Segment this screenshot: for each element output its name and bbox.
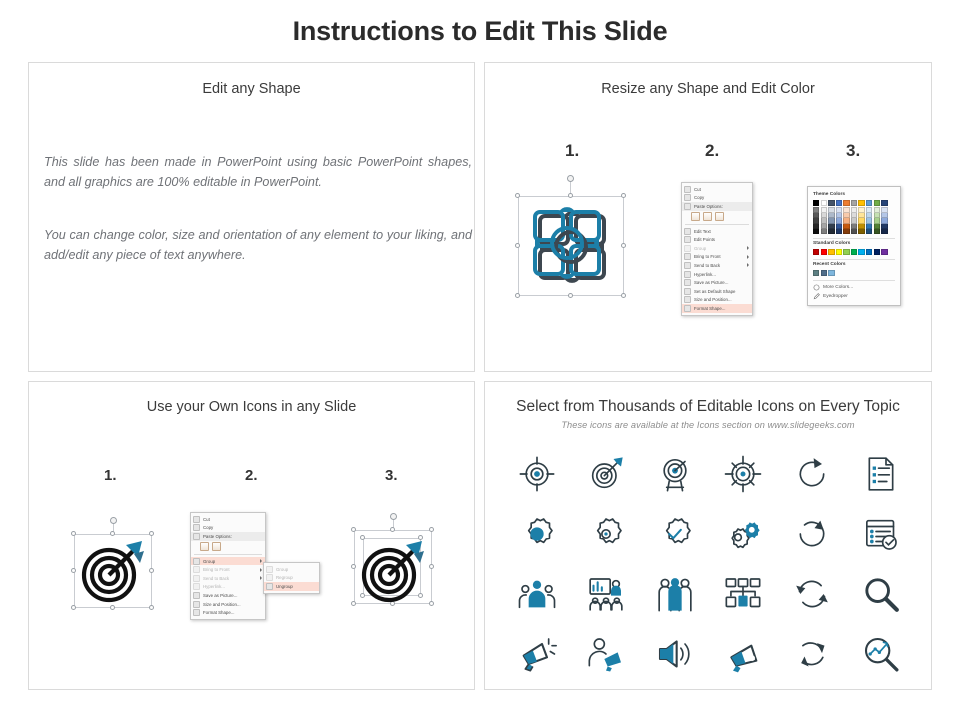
color-swatch-2[interactable] xyxy=(821,200,827,206)
format-shape-icon xyxy=(684,305,691,312)
submenu-arrow-icon xyxy=(747,263,749,267)
color-swatch-8[interactable] xyxy=(866,249,872,255)
context-menu-item-format-shape[interactable]: Format Shape... xyxy=(682,304,752,313)
context-menu-item-label: Format Shape... xyxy=(694,306,725,311)
resize-step-number-2: 2. xyxy=(705,141,719,161)
resize-handle-n-3[interactable] xyxy=(390,527,395,532)
context-menu-item-hyperlink[interactable]: Hyperlink... xyxy=(682,270,752,279)
panel-heading-icon-library: Select from Thousands of Editable Icons … xyxy=(485,398,931,416)
context-menu-item-label: Bring to Front xyxy=(203,567,230,572)
panel-heading-own-icons: Use your Own Icons in any Slide xyxy=(29,399,474,415)
eyedropper-item-label: Eyedropper xyxy=(823,294,848,299)
context-submenu-group[interactable]: GroupRegroupUngroup xyxy=(263,562,320,594)
context-menu-shape[interactable]: CutCopyPaste Options:Edit TextEdit Point… xyxy=(681,182,753,316)
color-swatch-3[interactable] xyxy=(828,270,834,276)
resize-handle-ne-3[interactable] xyxy=(429,527,434,532)
color-swatch-1[interactable] xyxy=(813,270,819,276)
resize-handle-se-2[interactable] xyxy=(149,605,154,610)
paste-option-icon-2[interactable] xyxy=(212,542,221,551)
theme-tint-column-8[interactable] xyxy=(866,207,872,234)
dartboard-arrow-ungrouped-icon[interactable] xyxy=(358,535,428,608)
scissors-icon xyxy=(684,186,691,193)
icon-library-grid xyxy=(503,444,915,684)
edit-points-icon xyxy=(684,236,691,243)
team-three-icon[interactable] xyxy=(652,571,698,617)
group-icon xyxy=(266,566,273,573)
context-menu-item-label: Edit Points xyxy=(694,237,715,242)
slide-canvas: Instructions to Edit This Slide Edit any… xyxy=(0,0,960,720)
context-menu-item-label: Size and Position... xyxy=(694,297,732,302)
color-swatch-10[interactable] xyxy=(881,200,887,206)
resize-handle-ne-2[interactable] xyxy=(149,531,154,536)
color-swatch-2[interactable] xyxy=(821,249,827,255)
theme-tint-swatch-8-5[interactable] xyxy=(866,229,872,234)
theme-tint-column-10[interactable] xyxy=(881,207,887,234)
paste-option-buttons[interactable] xyxy=(682,211,752,223)
theme-tint-swatch-3-5[interactable] xyxy=(828,229,834,234)
palette-icon xyxy=(813,284,820,291)
theme-tint-column-9[interactable] xyxy=(874,207,880,234)
resize-handle-w-3[interactable] xyxy=(351,564,356,569)
edit-shape-paragraph-1: This slide has been made in PowerPoint u… xyxy=(44,152,472,193)
resize-handle-e[interactable] xyxy=(621,243,626,248)
context-menu-item-label: Bring to Front xyxy=(694,254,721,259)
eyedropper-item[interactable]: Eyedropper xyxy=(813,292,895,301)
four-square-rotate-shape-icon[interactable] xyxy=(529,200,615,297)
more-colors-item[interactable]: More Colors... xyxy=(813,283,895,292)
color-swatch-5[interactable] xyxy=(843,249,849,255)
theme-tint-swatch-1-5[interactable] xyxy=(813,229,819,234)
context-menu-item-group[interactable]: Group xyxy=(264,565,319,574)
magnifier-chart-icon[interactable] xyxy=(858,631,904,677)
ungroup-icon xyxy=(266,583,273,590)
paste-option-icon-3[interactable] xyxy=(715,212,724,221)
menu-separator xyxy=(194,554,262,555)
icons-step-number-1: 1. xyxy=(104,467,117,484)
size-position-icon xyxy=(684,296,691,303)
submenu-arrow-icon xyxy=(260,559,262,563)
context-menu-item-label: Save as Picture... xyxy=(694,280,728,285)
people-group-icon[interactable] xyxy=(514,571,560,617)
sync-arrows-icon[interactable] xyxy=(789,571,835,617)
color-palette-popup[interactable]: Theme ColorsStandard ColorsRecent Colors… xyxy=(807,186,901,306)
context-menu-item-size-and-position[interactable]: Size and Position... xyxy=(682,296,752,305)
context-menu-item-copy[interactable]: Copy xyxy=(682,194,752,203)
paste-option-buttons[interactable] xyxy=(191,541,265,553)
paste-icon xyxy=(684,203,691,210)
theme-tint-swatch-6-5[interactable] xyxy=(851,229,857,234)
theme-tint-column-4[interactable] xyxy=(836,207,842,234)
color-swatch-9[interactable] xyxy=(874,249,880,255)
resize-handle-nw[interactable] xyxy=(515,193,520,198)
color-swatch-4[interactable] xyxy=(836,249,842,255)
theme-tint-swatch-7-5[interactable] xyxy=(858,229,864,234)
color-swatch-9[interactable] xyxy=(874,200,880,206)
send-back-icon xyxy=(684,262,691,269)
scissors-icon xyxy=(193,516,200,523)
resize-step-number-3: 3. xyxy=(846,141,860,161)
theme-colors-tints[interactable] xyxy=(813,207,895,234)
panel-icon-library: Select from Thousands of Editable Icons … xyxy=(484,381,932,690)
context-menu-item-label: Send to Back xyxy=(694,263,720,268)
context-menu-item-label: Format Shape... xyxy=(203,610,234,615)
copy-icon xyxy=(193,524,200,531)
context-menu-item-label: Regroup xyxy=(276,575,293,580)
context-menu-item-label: Set as Default Shape xyxy=(694,289,736,294)
recent-colors-label: Recent Colors xyxy=(813,262,895,267)
speaker-loud-icon[interactable] xyxy=(652,631,698,677)
theme-tint-column-3[interactable] xyxy=(828,207,834,234)
target-scope-icon[interactable] xyxy=(720,451,766,497)
resize-handle-sw-2[interactable] xyxy=(71,605,76,610)
context-menu-item-label: Send to Back xyxy=(203,576,229,581)
gears-pair-icon[interactable] xyxy=(720,511,766,557)
menu-separator xyxy=(685,224,749,225)
context-menu-item-send-to-back[interactable]: Send to Back xyxy=(191,574,265,583)
theme-colors-base-row[interactable] xyxy=(813,200,895,206)
resize-handle-n-2[interactable] xyxy=(110,531,115,536)
resize-handle-w-2[interactable] xyxy=(71,568,76,573)
context-menu-item-label: Cut xyxy=(203,517,210,522)
paste-option-icon-1[interactable] xyxy=(200,542,209,551)
edit-text-icon xyxy=(684,228,691,235)
resize-handle-se-3[interactable] xyxy=(429,601,434,606)
org-chart-icon[interactable] xyxy=(720,571,766,617)
dartboard-arrow-shape-icon[interactable] xyxy=(78,537,148,610)
context-menu-item-paste-options[interactable]: Paste Options: xyxy=(682,202,752,211)
color-swatch-3[interactable] xyxy=(828,200,834,206)
resize-handle-se[interactable] xyxy=(621,293,626,298)
color-swatch-5[interactable] xyxy=(843,200,849,206)
context-menu-item-label: Copy xyxy=(694,195,704,200)
color-swatch-6[interactable] xyxy=(851,249,857,255)
color-swatch-10[interactable] xyxy=(881,249,887,255)
theme-tint-swatch-2-5[interactable] xyxy=(821,229,827,234)
submenu-arrow-icon xyxy=(260,568,262,572)
context-menu-item-bring-to-front[interactable]: Bring to Front xyxy=(191,565,265,574)
standard-colors-label: Standard Colors xyxy=(813,241,895,246)
gear-filled-icon[interactable] xyxy=(514,511,560,557)
bring-front-icon xyxy=(684,253,691,260)
context-menu-item-format-shape[interactable]: Format Shape... xyxy=(191,608,265,617)
theme-tint-swatch-5-5[interactable] xyxy=(843,229,849,234)
context-menu-item-label: Paste Options: xyxy=(203,534,232,539)
rotation-handle-3[interactable] xyxy=(390,513,397,520)
submenu-arrow-icon xyxy=(260,576,262,580)
target-stand-icon[interactable] xyxy=(652,451,698,497)
default-shape-icon xyxy=(684,288,691,295)
color-swatch-8[interactable] xyxy=(866,200,872,206)
color-swatch-6[interactable] xyxy=(851,200,857,206)
color-swatch-3[interactable] xyxy=(828,249,834,255)
color-swatch-4[interactable] xyxy=(836,200,842,206)
context-menu-item-send-to-back[interactable]: Send to Back xyxy=(682,261,752,270)
reload-circle-icon[interactable] xyxy=(789,511,835,557)
context-menu-item-size-and-position[interactable]: Size and Position... xyxy=(191,600,265,609)
context-menu-item-label: Size and Position... xyxy=(203,602,241,607)
gear-small-icon[interactable] xyxy=(583,511,629,557)
color-swatch-2[interactable] xyxy=(821,270,827,276)
context-menu-item-ungroup[interactable]: Ungroup xyxy=(264,582,319,591)
color-swatch-1[interactable] xyxy=(813,200,819,206)
discount-megaphone-icon[interactable] xyxy=(720,631,766,677)
context-menu-item-label: Group xyxy=(276,567,288,572)
context-menu-item-hyperlink[interactable]: Hyperlink... xyxy=(191,583,265,592)
theme-tint-swatch-9-5[interactable] xyxy=(874,229,880,234)
context-menu-item-paste-options[interactable]: Paste Options: xyxy=(191,532,265,541)
context-menu-item-label: Edit Text xyxy=(694,229,711,234)
megaphone-icon[interactable] xyxy=(514,631,560,677)
context-menu-item-edit-points[interactable]: Edit Points xyxy=(682,235,752,244)
submenu-arrow-icon xyxy=(747,246,749,250)
paste-option-icon-1[interactable] xyxy=(691,212,700,221)
theme-tint-swatch-10-5[interactable] xyxy=(881,229,887,234)
palette-separator-2 xyxy=(813,259,895,260)
resize-handle-nw-2[interactable] xyxy=(71,531,76,536)
context-menu-item-save-as-picture[interactable]: Save as Picture... xyxy=(191,591,265,600)
dartboard-arrow-icon[interactable] xyxy=(583,451,629,497)
resize-handle-sw-3[interactable] xyxy=(351,601,356,606)
color-swatch-7[interactable] xyxy=(858,200,864,206)
context-menu-item-label: Paste Options: xyxy=(694,204,723,209)
context-menu-item-save-as-picture[interactable]: Save as Picture... xyxy=(682,278,752,287)
presentation-audience-icon[interactable] xyxy=(583,571,629,617)
paste-option-icon-2[interactable] xyxy=(703,212,712,221)
recent-colors-row[interactable] xyxy=(813,270,895,276)
hyperlink-icon xyxy=(684,271,691,278)
resize-step-number-1: 1. xyxy=(565,141,579,161)
panel-subheading-icon-library: These icons are available at the Icons s… xyxy=(485,420,931,430)
group-icon xyxy=(193,558,200,565)
page-title: Instructions to Edit This Slide xyxy=(0,16,960,47)
resize-handle-e-3[interactable] xyxy=(429,564,434,569)
context-menu-item-label: Group xyxy=(203,559,215,564)
panel-heading-resize-shape: Resize any Shape and Edit Color xyxy=(485,81,931,97)
resize-handle-e-2[interactable] xyxy=(149,568,154,573)
group-icon xyxy=(684,245,691,252)
icons-step-number-3: 3. xyxy=(385,467,398,484)
icons-step-number-2: 2. xyxy=(245,467,258,484)
context-menu-item-copy[interactable]: Copy xyxy=(191,524,265,533)
context-menu-item-group[interactable]: Group xyxy=(191,557,265,566)
theme-tint-column-2[interactable] xyxy=(821,207,827,234)
standard-colors-row[interactable] xyxy=(813,249,895,255)
bring-front-icon xyxy=(193,566,200,573)
context-menu-item-set-as-default-shape[interactable]: Set as Default Shape xyxy=(682,287,752,296)
theme-tint-swatch-4-5[interactable] xyxy=(836,229,842,234)
context-menu-item-label: Hyperlink... xyxy=(203,584,225,589)
edit-shape-paragraph-2: You can change color, size and orientati… xyxy=(44,225,472,266)
save-picture-icon xyxy=(684,279,691,286)
palette-separator-1 xyxy=(813,238,895,239)
context-menu-item-edit-text[interactable]: Edit Text xyxy=(682,227,752,236)
regroup-icon xyxy=(266,574,273,581)
context-menu-item-label: Group xyxy=(694,246,706,251)
theme-tint-column-5[interactable] xyxy=(843,207,849,234)
context-menu-item-cut[interactable]: Cut xyxy=(682,185,752,194)
person-megaphone-icon[interactable] xyxy=(583,631,629,677)
checklist-document-icon[interactable] xyxy=(858,451,904,497)
context-menu-item-label: Hyperlink... xyxy=(694,272,716,277)
resize-handle-n[interactable] xyxy=(568,193,573,198)
copy-icon xyxy=(684,194,691,201)
context-menu-item-label: Copy xyxy=(203,525,213,530)
context-menu-item-label: Ungroup xyxy=(276,584,293,589)
color-swatch-7[interactable] xyxy=(858,249,864,255)
context-menu-item-group[interactable]: Group xyxy=(682,244,752,253)
more-colors-item-label: More Colors... xyxy=(823,285,853,290)
resize-handle-ne[interactable] xyxy=(621,193,626,198)
theme-tint-column-1[interactable] xyxy=(813,207,819,234)
color-swatch-1[interactable] xyxy=(813,249,819,255)
resize-handle-sw[interactable] xyxy=(515,293,520,298)
rotation-handle-2[interactable] xyxy=(110,517,117,524)
context-menu-item-regroup[interactable]: Regroup xyxy=(264,574,319,583)
theme-tint-column-6[interactable] xyxy=(851,207,857,234)
target-crosshair-icon[interactable] xyxy=(514,451,560,497)
size-position-icon xyxy=(193,601,200,608)
paste-icon xyxy=(193,533,200,540)
context-menu-item-bring-to-front[interactable]: Bring to Front xyxy=(682,253,752,262)
panel-heading-edit-shape: Edit any Shape xyxy=(29,81,474,97)
task-list-check-icon[interactable] xyxy=(858,511,904,557)
hyperlink-icon xyxy=(193,583,200,590)
context-menu-item-label: Save as Picture... xyxy=(203,593,237,598)
format-shape-icon xyxy=(193,609,200,616)
gear-outline-icon[interactable] xyxy=(652,511,698,557)
palette-separator-3 xyxy=(813,280,895,281)
refresh-clockwise-icon[interactable] xyxy=(789,451,835,497)
submenu-arrow-icon xyxy=(747,255,749,259)
context-menu-group[interactable]: CutCopyPaste Options:GroupBring to Front… xyxy=(190,512,266,620)
magnifier-icon[interactable] xyxy=(858,571,904,617)
panel-edit-any-shape: Edit any Shape xyxy=(28,62,475,372)
resize-handle-w[interactable] xyxy=(515,243,520,248)
send-back-icon xyxy=(193,575,200,582)
eyedropper-icon xyxy=(813,293,820,300)
cycle-arrows-icon[interactable] xyxy=(789,631,835,677)
theme-colors-label: Theme Colors xyxy=(813,192,895,197)
theme-tint-column-7[interactable] xyxy=(858,207,864,234)
save-picture-icon xyxy=(193,592,200,599)
resize-handle-nw-3[interactable] xyxy=(351,527,356,532)
context-menu-item-cut[interactable]: Cut xyxy=(191,515,265,524)
context-menu-item-label: Cut xyxy=(694,187,701,192)
rotation-handle[interactable] xyxy=(567,175,574,182)
